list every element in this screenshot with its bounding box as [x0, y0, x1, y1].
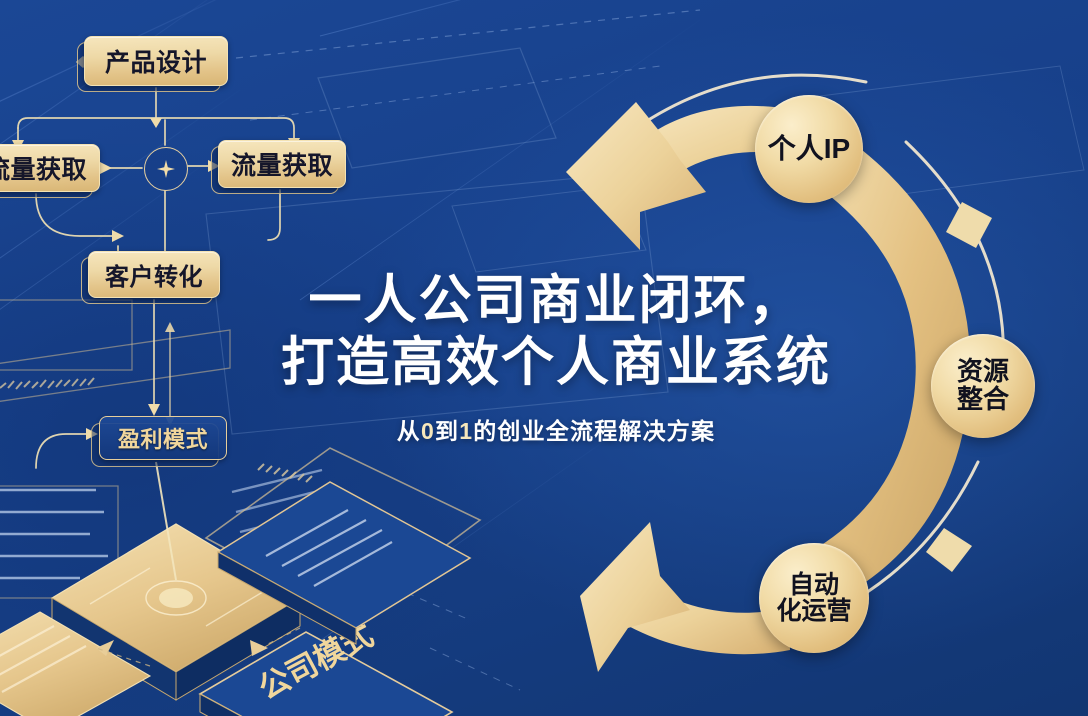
cycle-node-label-line1: 资源	[957, 358, 1009, 386]
subtitle-number-0: 0	[421, 418, 435, 444]
headline-subtitle: 从0到1的创业全流程解决方案	[256, 412, 856, 446]
cycle-node-label-line2: 整合	[957, 386, 1009, 414]
subtitle-number-1: 1	[459, 418, 473, 444]
subtitle-part-3: 的创业全流程解决方案	[473, 418, 715, 444]
headline-block: 一人公司商业闭环， 打造高效个人商业系统 从0到1的创业全流程解决方案	[256, 270, 856, 446]
cycle-node-label-line1: 自动	[789, 572, 839, 599]
arrow-bottom-head	[580, 522, 690, 672]
headline-line-1: 一人公司商业闭环，	[256, 270, 856, 332]
cycle-node-label: 个人IP	[768, 134, 850, 164]
cycle-node-auto-operation[interactable]: 自动 化运营	[759, 543, 869, 653]
headline-line-2: 打造高效个人商业系统	[256, 332, 856, 394]
cycle-node-personal-ip[interactable]: 个人IP	[755, 95, 863, 203]
poster-canvas: 公司模式	[0, 0, 1088, 716]
subtitle-part-2: 到	[435, 418, 459, 444]
cycle-node-resource-merge[interactable]: 资源 整合	[931, 334, 1035, 438]
subtitle-part-1: 从	[397, 418, 421, 444]
diamond-accent-right	[946, 202, 992, 248]
cycle-node-label-line2: 化运营	[776, 598, 851, 625]
